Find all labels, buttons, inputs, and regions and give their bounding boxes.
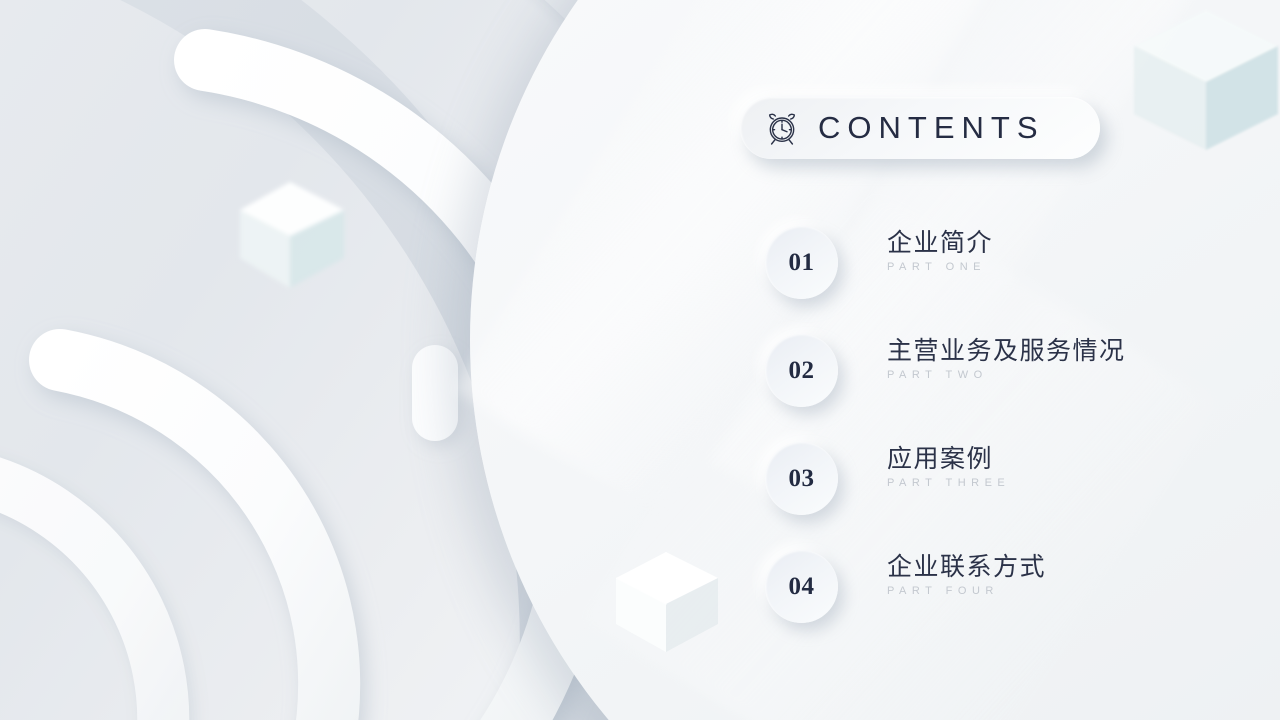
toc-number: 03 (789, 465, 815, 493)
toc-number: 01 (789, 249, 815, 277)
toc-badge-03: 03 (765, 442, 838, 515)
toc-badge-04: 04 (765, 550, 838, 623)
toc-title: 主营业务及服务情况 (887, 336, 1126, 367)
toc-text-block: 企业联系方式 PART FOUR (887, 552, 1046, 597)
toc-text-block: 企业简介 PART ONE (887, 228, 993, 273)
table-of-contents: 01 企业简介 PART ONE 02 主营业务及服务情况 PART TWO (765, 222, 1235, 654)
presentation-slide: CONTENTS 01 企业简介 PART ONE 02 主营业务及服务情况 (0, 0, 1280, 720)
toc-title: 应用案例 (887, 444, 1010, 475)
toc-subtitle: PART THREE (887, 477, 1010, 489)
toc-subtitle: PART TWO (887, 369, 1126, 381)
toc-number: 02 (789, 357, 815, 385)
toc-badge-02: 02 (765, 334, 838, 407)
toc-text-block: 主营业务及服务情况 PART TWO (887, 336, 1126, 381)
slide-content: CONTENTS 01 企业简介 PART ONE 02 主营业务及服务情况 (0, 0, 1280, 720)
toc-number: 04 (789, 573, 815, 601)
toc-subtitle: PART ONE (887, 261, 993, 273)
toc-item-02[interactable]: 02 主营业务及服务情况 PART TWO (765, 330, 1235, 438)
toc-item-01[interactable]: 01 企业简介 PART ONE (765, 222, 1235, 330)
contents-title: CONTENTS (818, 110, 1045, 146)
contents-title-pill: CONTENTS (740, 97, 1100, 159)
toc-item-04[interactable]: 04 企业联系方式 PART FOUR (765, 546, 1235, 654)
toc-item-03[interactable]: 03 应用案例 PART THREE (765, 438, 1235, 546)
alarm-clock-icon (762, 108, 802, 148)
toc-title: 企业联系方式 (887, 552, 1046, 583)
toc-text-block: 应用案例 PART THREE (887, 444, 1010, 489)
toc-badge-01: 01 (765, 226, 838, 299)
toc-title: 企业简介 (887, 228, 993, 259)
toc-subtitle: PART FOUR (887, 585, 1046, 597)
